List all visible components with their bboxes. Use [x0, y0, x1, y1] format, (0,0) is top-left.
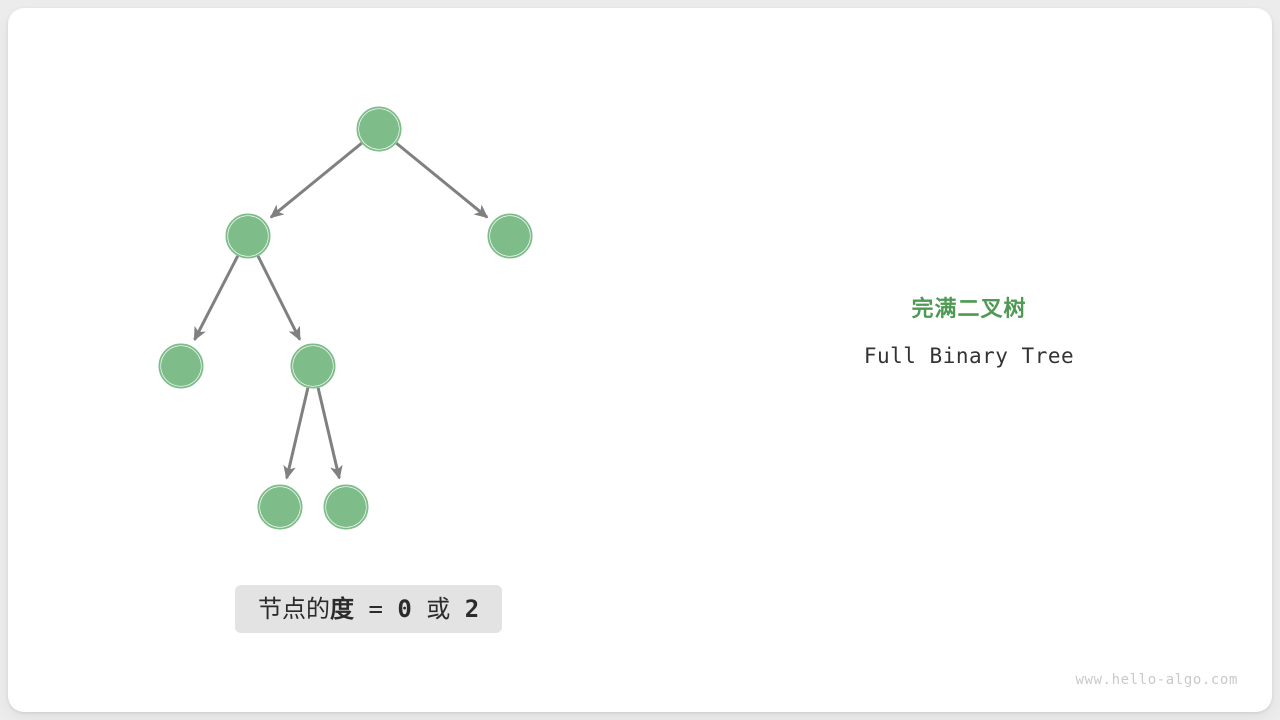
tree-edge-group: [195, 143, 488, 478]
tree-edge: [318, 388, 339, 478]
tree-edge: [287, 388, 308, 478]
site-watermark: www.hello-algo.com: [1075, 672, 1238, 688]
tree-node-group: [160, 108, 532, 529]
caption-value-two: 2: [465, 595, 479, 623]
tree-edge: [195, 256, 238, 340]
tree-node: [358, 108, 401, 151]
caption-value-one: 0: [397, 595, 411, 623]
tree-node-circle: [293, 346, 333, 386]
tree-node: [489, 215, 532, 258]
caption-prefix: 节点的: [258, 595, 330, 623]
tree-edge: [258, 256, 300, 339]
tree-node-circle: [161, 346, 201, 386]
tree-node: [259, 486, 302, 529]
legend-block: 完满二叉树 Full Binary Tree: [760, 296, 1178, 369]
tree-node-circle: [326, 487, 366, 527]
tree-node: [325, 486, 368, 529]
tree-edge: [396, 143, 487, 217]
degree-annotation-badge: 节点的度 = 0 或 2: [235, 585, 502, 633]
tree-node-circle: [260, 487, 300, 527]
tree-edge: [271, 143, 362, 217]
tree-node: [227, 215, 270, 258]
degree-annotation-text: 节点的度 = 0 或 2: [258, 597, 479, 621]
tree-node-circle: [359, 109, 399, 149]
caption-equals: =: [354, 595, 397, 623]
tree-node-circle: [490, 216, 530, 256]
tree-node: [292, 345, 335, 388]
caption-conjunction: 或: [412, 595, 465, 623]
diagram-subtitle: Full Binary Tree: [760, 343, 1178, 369]
diagram-canvas: 完满二叉树 Full Binary Tree 节点的度 = 0 或 2 www.…: [0, 0, 1280, 720]
tree-node: [160, 345, 203, 388]
caption-bold-term: 度: [330, 595, 354, 623]
tree-node-circle: [228, 216, 268, 256]
diagram-title: 完满二叉树: [760, 296, 1178, 322]
